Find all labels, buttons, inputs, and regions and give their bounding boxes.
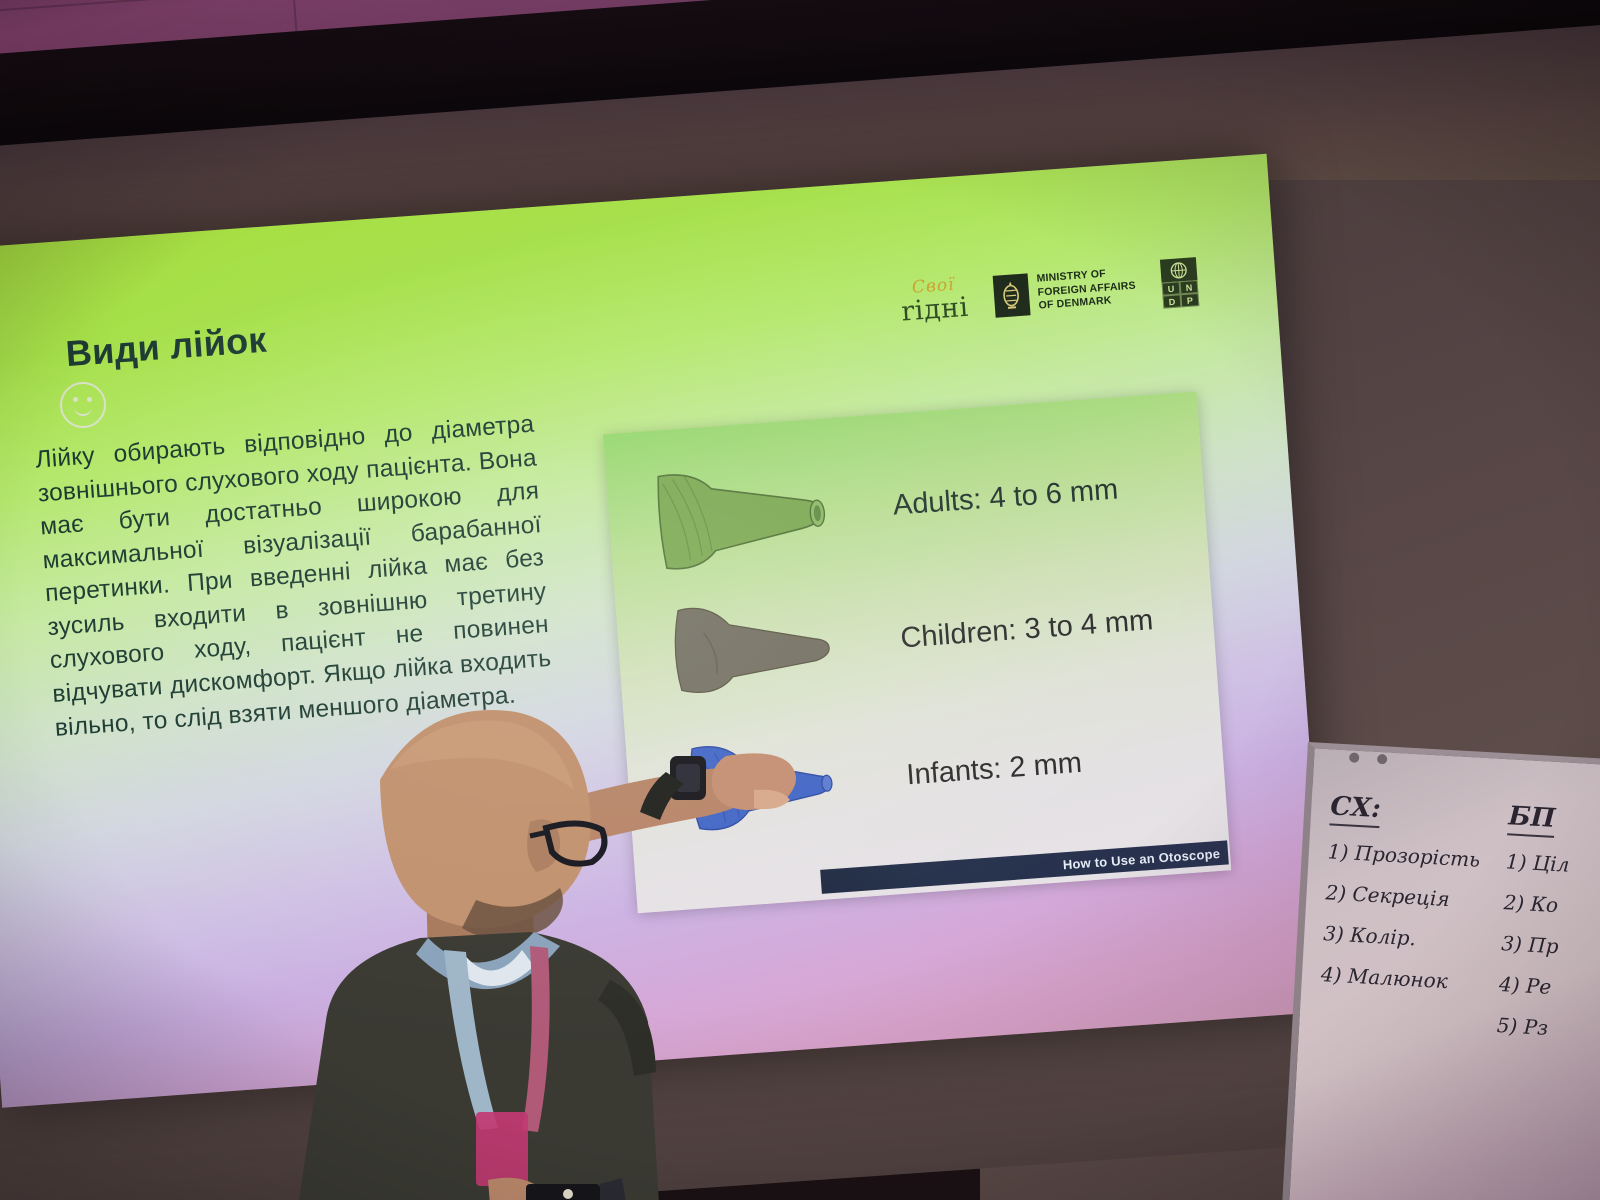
whiteboard-right-heading: БП (1507, 801, 1556, 838)
adults-speculum-label: Adults: 4 to 6 mm (892, 473, 1119, 522)
slide-title: Види лійок (64, 319, 268, 375)
whiteboard: СХ: 1) Прозорість 2) Секреція 3) Колір. … (1282, 742, 1600, 1200)
video-title-text: How to Use an Otoscope (1062, 845, 1220, 871)
undp-globe-icon (1160, 257, 1198, 283)
children-speculum-label: Children: 3 to 4 mm (899, 604, 1154, 655)
undp-letter-p: P (1180, 293, 1199, 307)
ridni-logo: Свої rідні (899, 276, 969, 326)
undp-letter-d: D (1163, 294, 1182, 308)
speculum-row-adults: Adults: 4 to 6 mm (648, 434, 1123, 580)
whiteboard-notes: СХ: 1) Прозорість 2) Секреція 3) Колір. … (1317, 791, 1600, 1060)
video-title-bar: How to Use an Otoscope (820, 840, 1229, 893)
whiteboard-left-item-2: 2) Секреція (1325, 880, 1478, 912)
whiteboard-left-item-3: 3) Колір. (1323, 921, 1476, 953)
denmark-crown-crest-icon (992, 273, 1030, 317)
presenter-figure (230, 660, 870, 1200)
whiteboard-left-heading: СХ: (1329, 791, 1381, 828)
whiteboard-column-right: БП 1) Ціл 2) Ко 3) Пр 4) Ре 5) Рз (1495, 801, 1600, 1060)
ridni-word: rідні (900, 294, 969, 326)
slide-logo-row: Свої rідні MINISTRY OF FOREI (899, 257, 1199, 327)
whiteboard-right-item-5: 5) Рз (1496, 1013, 1600, 1044)
whiteboard-right-item-3: 3) Пр (1501, 931, 1600, 962)
denmark-mfa-logo: MINISTRY OF FOREIGN AFFAIRS OF DENMARK (992, 265, 1137, 317)
undp-logo: U N D P (1160, 257, 1199, 308)
infants-speculum-label: Infants: 2 mm (905, 746, 1083, 792)
sleeve-smiley-logo-icon (60, 382, 106, 428)
whiteboard-right-item-4: 4) Ре (1498, 972, 1600, 1003)
whiteboard-right-item-1: 1) Ціл (1505, 849, 1600, 880)
whiteboard-left-item-4: 4) Малюнок (1320, 962, 1473, 994)
undp-letter-grid: U N D P (1162, 280, 1200, 309)
whiteboard-column-left: СХ: 1) Прозорість 2) Секреція 3) Колір. … (1317, 791, 1483, 1052)
whiteboard-left-item-1: 1) Прозорість (1327, 839, 1480, 871)
lecture-room-photo: Види лійок Свої rідні (0, 0, 1600, 1200)
adults-speculum-icon (648, 454, 846, 579)
denmark-mfa-wordmark: MINISTRY OF FOREIGN AFFAIRS OF DENMARK (1036, 266, 1137, 313)
whiteboard-right-item-2: 2) Ко (1503, 890, 1600, 921)
